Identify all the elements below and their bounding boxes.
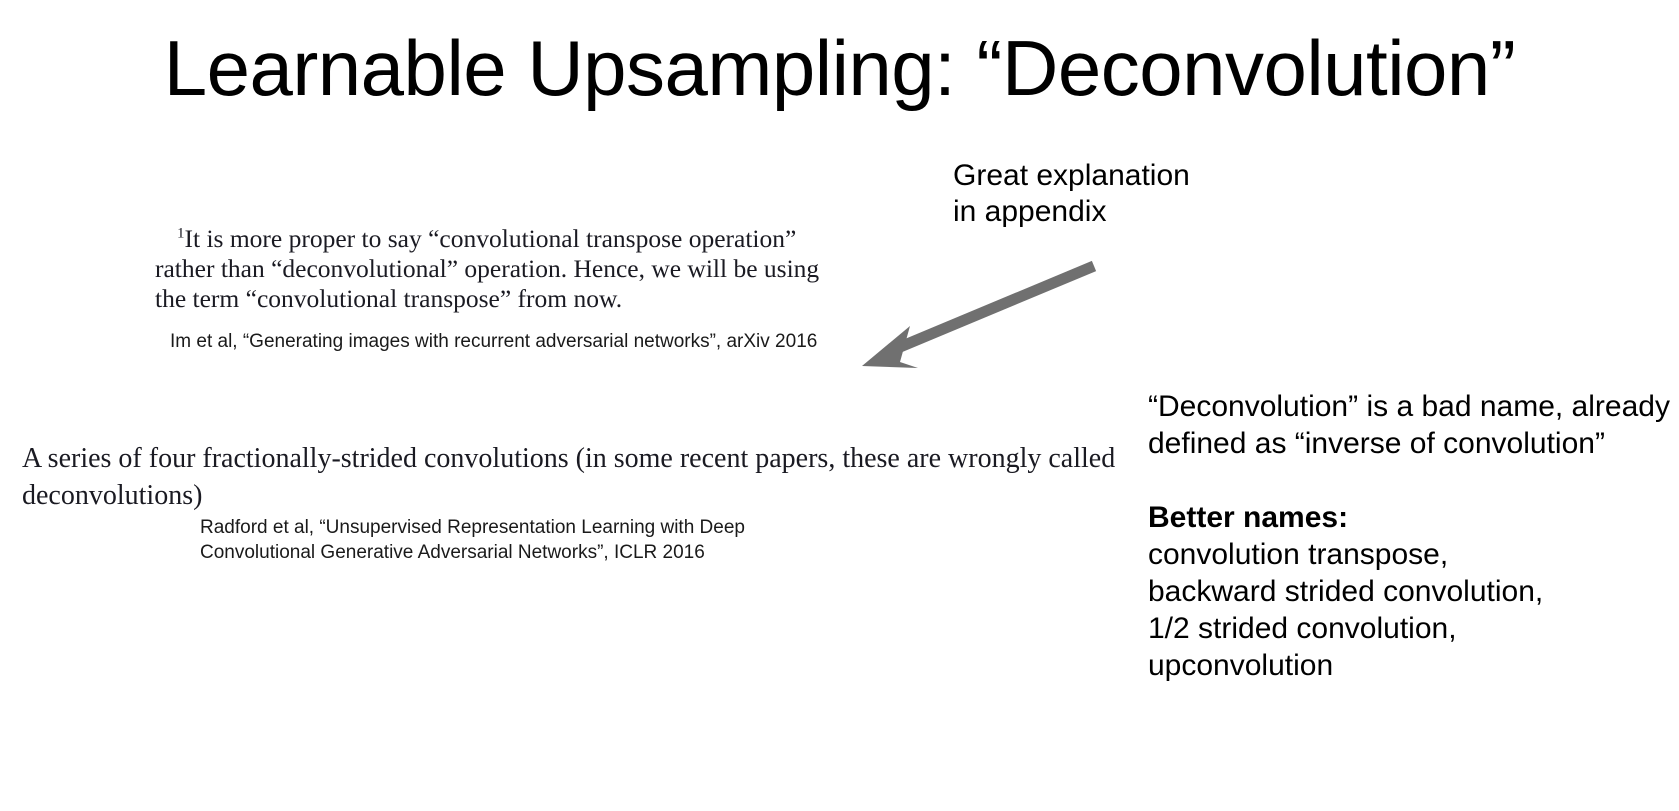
pointer-arrow (800, 240, 1120, 380)
footnote-marker: 1 (177, 226, 185, 242)
citation-radford-et-al: Radford et al, “Unsupervised Representat… (200, 515, 820, 565)
commentary-better-names-list: convolution transpose, backward strided … (1148, 536, 1678, 684)
paper-excerpt-radford: A series of four fractionally-strided co… (22, 440, 1147, 514)
commentary-better-names-heading: Better names: (1148, 499, 1678, 536)
arrow-shape (862, 266, 1094, 368)
footnote-text: It is more proper to say “convolutional … (155, 224, 819, 313)
slide-canvas: Learnable Upsampling: “Deconvolution” 1I… (0, 0, 1679, 811)
annotation-great-explanation: Great explanation in appendix (953, 158, 1283, 230)
commentary-bad-name: “Deconvolution” is a bad name, already d… (1148, 388, 1678, 462)
commentary-column: “Deconvolution” is a bad name, already d… (1148, 388, 1678, 684)
paper-excerpt-footnote: 1It is more proper to say “convolutional… (155, 224, 845, 314)
page-title: Learnable Upsampling: “Deconvolution” (0, 26, 1679, 110)
citation-im-et-al: Im et al, “Generating images with recurr… (170, 329, 870, 354)
